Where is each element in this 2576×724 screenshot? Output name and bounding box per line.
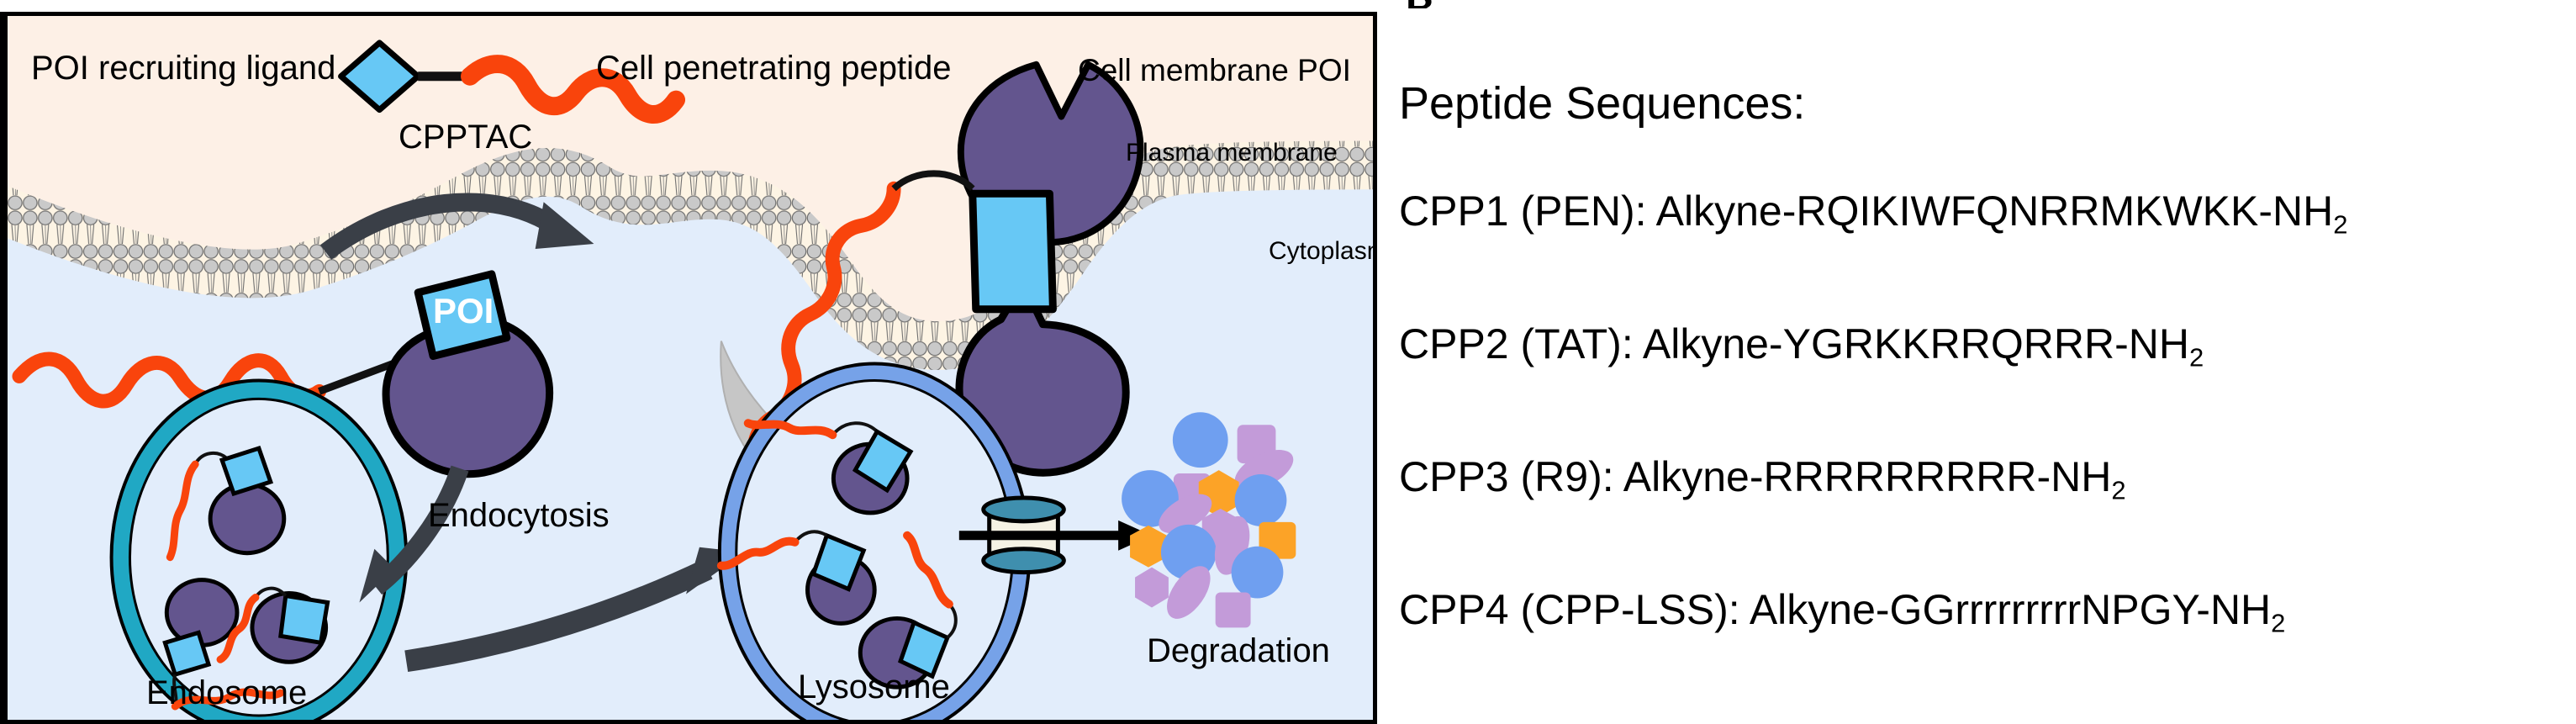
- annotation-endocytosis: Endocytosis: [428, 499, 610, 532]
- figure-root: POI recruiting ligand Cell penetrating p…: [0, 0, 2576, 724]
- legend-label-membrane-poi: Cell membrane POI: [1078, 55, 1351, 86]
- sequence-name: CPP3 (R9):: [1399, 453, 1614, 500]
- sequence-subscript: 2: [2189, 342, 2204, 372]
- poi-badge-label: POI: [433, 293, 494, 329]
- annotation-degradation: Degradation: [1147, 634, 1330, 668]
- panel-b-letter: B: [1406, 0, 1435, 8]
- sequence-suffix: -NH: [2114, 320, 2189, 367]
- sequence-prefix: Alkyne-: [1750, 586, 1890, 633]
- sequence-name: CPP1 (PEN):: [1399, 188, 1647, 235]
- annotation-lysosome: Lysosome: [798, 670, 950, 704]
- endosome: [112, 380, 407, 720]
- sequence-residues: RRRRRRRRR: [1764, 453, 2037, 500]
- legend-label-ligand: POI recruiting ligand: [31, 51, 335, 85]
- sequence-subscript: 2: [2271, 608, 2285, 637]
- sequence-row: CPP2 (TAT): Alkyne-YGRKKRRQRRR-NH2: [1399, 320, 2204, 373]
- annotation-endosome: Endosome: [146, 676, 307, 710]
- annotation-plasma-membrane: Plasma membrane: [1126, 140, 1338, 166]
- sequence-row: CPP4 (CPP-LSS): Alkyne-GGrrrrrrrrrNPGY-N…: [1399, 585, 2285, 638]
- panel-a-schematic: POI recruiting ligand Cell penetrating p…: [0, 12, 1377, 724]
- sequence-residues: GGrrrrrrrrrNPGY: [1890, 586, 2197, 633]
- annotation-cytoplasm: Cytoplasm: [1269, 239, 1377, 264]
- sequence-suffix: -NH: [2258, 188, 2333, 235]
- schematic-artwork: [8, 16, 1373, 720]
- sequences-heading: Peptide Sequences:: [1399, 77, 1805, 129]
- lysosome: [720, 364, 1030, 720]
- sequence-prefix: Alkyne-: [1643, 320, 1783, 367]
- sequence-row: CPP3 (R9): Alkyne-RRRRRRRRR-NH2: [1399, 452, 2126, 505]
- sequence-name: CPP2 (TAT):: [1399, 320, 1634, 367]
- sequence-name: CPP4 (CPP-LSS):: [1399, 586, 1740, 633]
- sequence-suffix: -NH: [2196, 586, 2271, 633]
- sequence-row: CPP1 (PEN): Alkyne-RQIKIWFQNRRMKWKK-NH2: [1399, 187, 2348, 240]
- sequence-residues: RQIKIWFQNRRMKWKK: [1796, 188, 2258, 235]
- sequence-residues: YGRKKRRQRRR: [1783, 320, 2114, 367]
- sequence-subscript: 2: [2333, 209, 2347, 239]
- panel-b-sequences: B Peptide Sequences: CPP1 (PEN): Alkyne-…: [1396, 0, 2576, 724]
- sequence-subscript: 2: [2111, 475, 2125, 505]
- legend-label-cpp: Cell penetrating peptide: [596, 51, 952, 85]
- sequence-prefix: Alkyne-: [1623, 453, 1764, 500]
- sequence-suffix: -NH: [2036, 453, 2111, 500]
- sequence-prefix: Alkyne-: [1656, 188, 1797, 235]
- legend-label-cpptac: CPPTAC: [399, 120, 532, 154]
